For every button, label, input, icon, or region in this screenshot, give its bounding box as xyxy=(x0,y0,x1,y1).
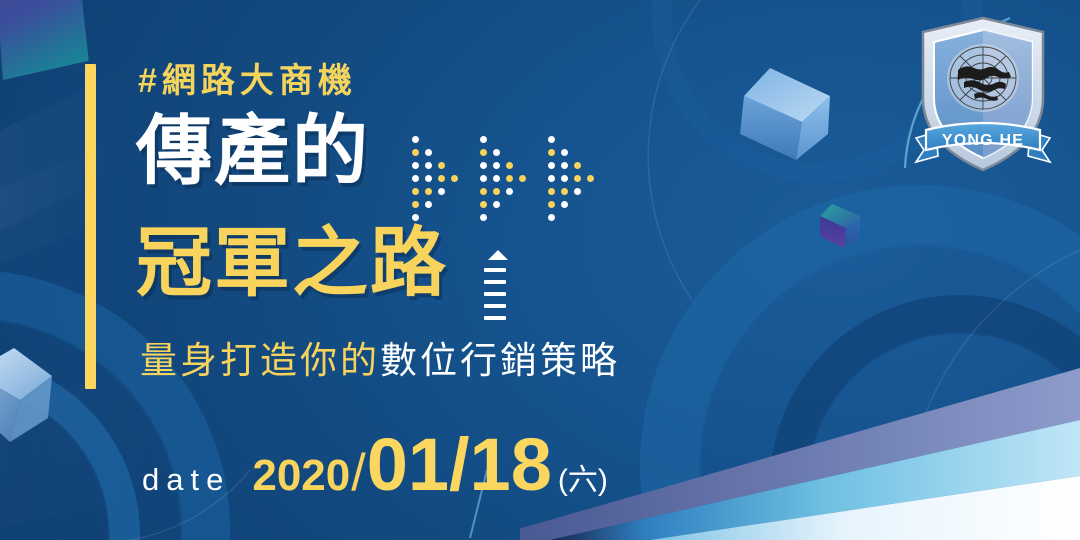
dot-matrix-dot xyxy=(425,188,432,195)
dot-matrix-dot xyxy=(519,175,526,182)
promo-banner: #網路大商機 傳產的 冠軍之路 量身打造你的數位行銷策略 date 2020 /… xyxy=(0,0,1080,540)
dot-matrix-dot xyxy=(412,175,419,182)
dot-matrix-dot xyxy=(412,149,419,156)
headline-line-1: 傳產的 xyxy=(136,114,370,190)
dot-matrix-dot xyxy=(561,201,568,208)
dot-matrix-dot xyxy=(587,175,594,182)
dot-matrix-dot xyxy=(425,175,432,182)
dot-matrix-dot xyxy=(506,188,513,195)
dot-matrix-dot xyxy=(561,175,568,182)
dot-matrix-dot xyxy=(493,201,500,208)
date-label: date xyxy=(142,462,230,498)
dot-matrix-dot xyxy=(480,162,487,169)
yong-he-shield-logo: JC YONG HE xyxy=(908,12,1058,180)
rise-dash-4 xyxy=(484,304,506,308)
dot-matrix-dot xyxy=(438,162,445,169)
dot-matrix-dot xyxy=(548,149,555,156)
dot-matrix-dot xyxy=(480,201,487,208)
dot-matrix-dot xyxy=(548,175,555,182)
dot-matrix-dot xyxy=(574,188,581,195)
date-day: 01/18 xyxy=(367,428,552,502)
dot-matrix-dot xyxy=(506,175,513,182)
dot-matrix-dot xyxy=(412,136,419,143)
dot-matrix-dot xyxy=(493,188,500,195)
dot-matrix-dot xyxy=(574,162,581,169)
logo-ribbon-text: YONG HE xyxy=(942,132,1024,149)
dot-matrix-dot xyxy=(548,162,555,169)
dot-matrix-dot xyxy=(412,162,419,169)
dot-matrix-dot xyxy=(425,149,432,156)
yellow-accent-bar xyxy=(85,64,96,389)
dot-matrix-dot xyxy=(451,175,458,182)
dot-matrix-dot xyxy=(574,175,581,182)
dot-matrix-dot xyxy=(438,175,445,182)
rise-dash-5 xyxy=(484,316,506,320)
rise-dash-3 xyxy=(484,292,506,296)
headline-line-2: 冠軍之路 xyxy=(136,226,448,302)
rise-dash-2 xyxy=(484,280,506,284)
dot-matrix-dot xyxy=(425,162,432,169)
dot-matrix-dot xyxy=(480,175,487,182)
dot-matrix-dot xyxy=(425,201,432,208)
dot-matrix-dot xyxy=(480,188,487,195)
subtitle-highlight: 量身打造你的 xyxy=(140,340,380,381)
date-year: 2020 xyxy=(252,451,350,501)
subtitle: 量身打造你的數位行銷策略 xyxy=(140,338,620,384)
dot-matrix-dot xyxy=(548,214,555,221)
dot-matrix-dot xyxy=(506,162,513,169)
hashtag-text: #網路大商機 xyxy=(138,60,357,103)
dot-matrix-dot xyxy=(561,188,568,195)
dot-matrix-dot xyxy=(480,149,487,156)
subtitle-rest: 數位行銷策略 xyxy=(380,340,620,381)
dot-matrix-dot xyxy=(561,162,568,169)
dot-matrix-dot xyxy=(493,149,500,156)
dot-matrix-dot xyxy=(438,188,445,195)
dot-matrix-dot xyxy=(480,214,487,221)
dot-matrix-dot xyxy=(561,149,568,156)
dot-matrix-dot xyxy=(480,136,487,143)
dot-matrix-dot xyxy=(412,201,419,208)
dot-matrix-dot xyxy=(548,136,555,143)
dot-matrix-dot xyxy=(412,214,419,221)
dot-matrix-dot xyxy=(493,162,500,169)
dot-matrix-dot xyxy=(548,188,555,195)
dot-matrix-dot xyxy=(548,201,555,208)
dot-matrix-dot xyxy=(493,175,500,182)
rise-dash-1 xyxy=(484,268,506,272)
chevron-up-icon xyxy=(488,250,508,260)
date-line: date 2020 / 01/18 (六) xyxy=(142,428,608,503)
dot-matrix-dot xyxy=(412,188,419,195)
date-separator: / xyxy=(351,443,365,503)
date-weekday: (六) xyxy=(558,455,608,499)
